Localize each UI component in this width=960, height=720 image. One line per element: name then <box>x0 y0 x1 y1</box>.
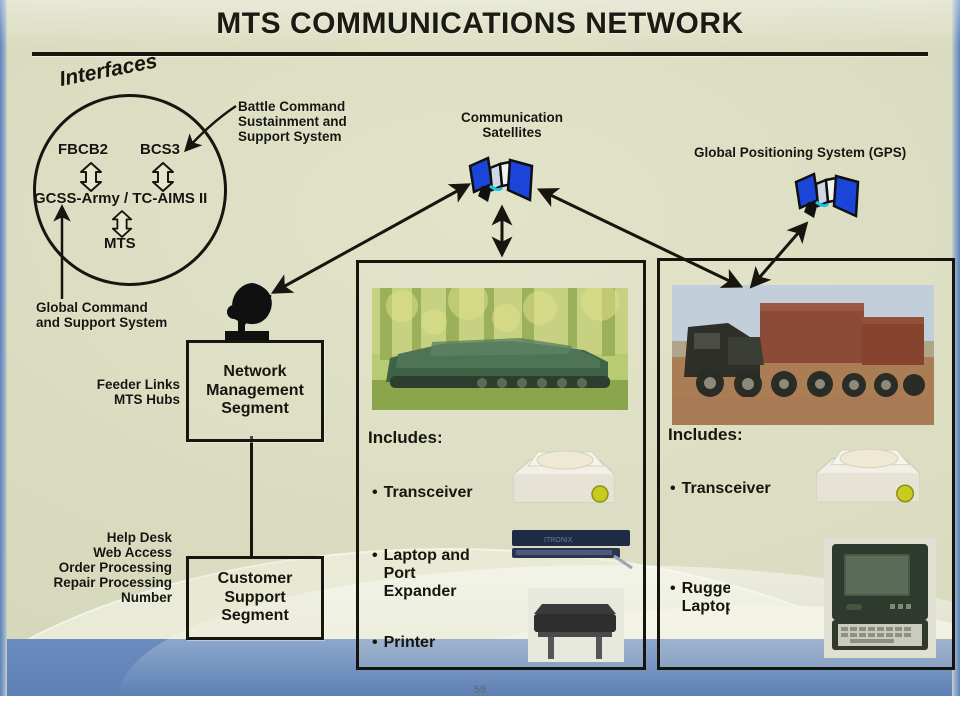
satellite-icon-gps <box>792 172 864 233</box>
callout-battle-command: Battle Command Sustainment and Support S… <box>238 99 347 144</box>
transceiver-photo-right <box>810 442 926 517</box>
background-bottom-strip <box>0 696 960 720</box>
label-gps: Global Positioning System (GPS) <box>694 145 906 160</box>
transceiver-photo-left <box>508 444 620 517</box>
satellite-dish-icon <box>215 279 289 348</box>
printer-photo <box>528 588 624 667</box>
includes-item-left-laptop-label: Laptop and Port Expander <box>384 547 482 601</box>
callout-global-command: Global Command and Support System <box>36 300 167 330</box>
interface-node-fbcb2: FBCB2 <box>58 142 108 159</box>
box-network-management-segment[interactable]: Network Management Segment <box>186 340 324 442</box>
includes-item-right-rugged-laptop-label: Rugged Laptop <box>682 580 730 616</box>
block-arrow-bcs3-to-tcaims-icon <box>150 162 176 192</box>
footer-page-number: 59 <box>0 684 960 696</box>
includes-heading-right: Includes: <box>668 425 743 445</box>
includes-item-left-printer: •Printer <box>372 616 435 652</box>
bullet-icon: • <box>372 634 378 651</box>
bullet-icon: • <box>372 547 378 565</box>
slide-canvas: MTS COMMUNICATIONS NETWORK Interfaces FB… <box>0 0 960 720</box>
interface-node-mts: MTS <box>104 236 136 253</box>
includes-item-left-transceiver: •Transceiver <box>372 466 473 502</box>
page-title: MTS COMMUNICATIONS NETWORK <box>0 7 960 41</box>
includes-item-left-transceiver-label: Transceiver <box>384 484 473 501</box>
includes-item-left-laptop: •Laptop and Port Expander <box>372 529 481 619</box>
label-communication-satellites: Communication Satellites <box>447 110 577 140</box>
bullet-icon: • <box>670 580 676 598</box>
svg-text:ITRONIX: ITRONIX <box>544 537 573 544</box>
callout-feeder-links: Feeder Links MTS Hubs <box>72 377 180 407</box>
box-customer-support-segment[interactable]: Customer Support Segment <box>186 556 324 640</box>
satellite-icon-communication <box>466 156 538 217</box>
background-left-edge <box>0 0 7 697</box>
includes-item-right-rugged-laptop: •Rugged Laptop <box>670 562 730 634</box>
block-arrow-fbcb2-to-gcss-icon <box>78 162 104 192</box>
box-customer-support-segment-label: Customer Support Segment <box>218 570 293 627</box>
heavy-cargo-truck-photo <box>672 285 934 425</box>
title-divider <box>32 52 928 56</box>
block-arrow-gcss-to-mts-icon <box>110 210 134 238</box>
includes-item-left-printer-label: Printer <box>384 634 436 651</box>
includes-item-right-transceiver: •Transceiver <box>670 462 771 498</box>
interface-node-bcs3: BCS3 <box>140 142 180 159</box>
camouflaged-tracked-vehicle-photo <box>372 288 628 410</box>
nms-css-connector-line <box>250 436 253 556</box>
bullet-icon: • <box>372 484 378 501</box>
includes-heading-left: Includes: <box>368 428 443 448</box>
interface-node-gcss-tcaims: GCSS-Army / TC-AIMS II <box>34 191 207 208</box>
laptop-port-expander-photo: ITRONIX <box>510 528 634 579</box>
box-network-management-segment-label: Network Management Segment <box>206 363 304 420</box>
rugged-laptop-photo <box>824 538 936 663</box>
includes-item-right-transceiver-label: Transceiver <box>682 480 771 497</box>
callout-help-desk: Help Desk Web Access Order Processing Re… <box>22 530 172 606</box>
bullet-icon: • <box>670 480 676 497</box>
